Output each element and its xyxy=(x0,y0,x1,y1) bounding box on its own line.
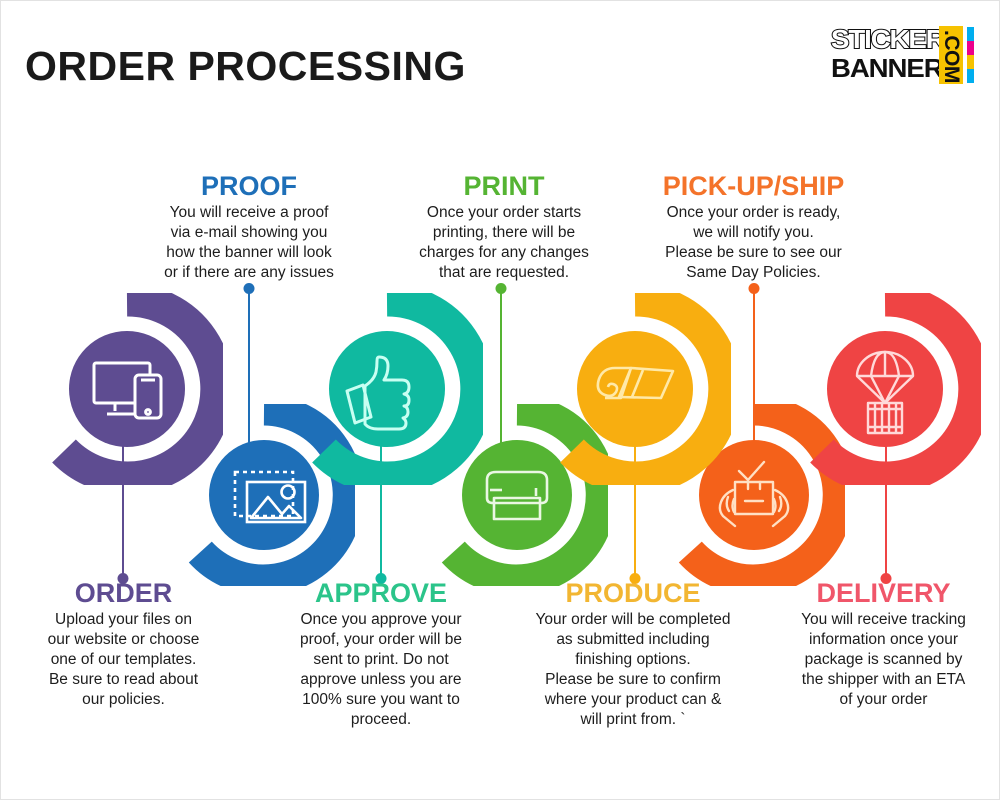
step-circle-approve[interactable] xyxy=(291,293,483,485)
body-line: Once your order starts xyxy=(406,203,602,223)
step-text-proof: PROOF You will receive a proof via e-mai… xyxy=(146,171,352,283)
connector-dot-pickup xyxy=(749,283,760,294)
step-title-approve: APPROVE xyxy=(279,578,483,608)
step-body-print: Once your order starts printing, there w… xyxy=(406,203,602,283)
step-body-pickup-ship: Once your order is ready, we will notify… xyxy=(651,203,856,283)
step-text-approve: APPROVE Once you approve your proof, you… xyxy=(279,578,483,730)
body-line: via e-mail showing you xyxy=(146,223,352,243)
step-circle-delivery[interactable] xyxy=(789,293,981,485)
logo-line-stickers: STICKERS xyxy=(831,25,950,54)
body-line: proceed. xyxy=(279,710,483,730)
body-line: of your order xyxy=(776,690,991,710)
body-line: will print from. ` xyxy=(513,710,753,730)
step-body-produce: Your order will be completed as submitte… xyxy=(513,610,753,730)
body-line: Same Day Policies. xyxy=(651,263,856,283)
step-title-delivery: DELIVERY xyxy=(776,578,991,608)
step-text-produce: PRODUCE Your order will be completed as … xyxy=(513,578,753,730)
body-line: we will notify you. xyxy=(651,223,856,243)
body-line: how the banner will look xyxy=(146,243,352,263)
body-line: approve unless you are xyxy=(279,670,483,690)
infographic-canvas: ORDER PROCESSING STICKERS BANNERS .COM xyxy=(0,0,1000,800)
delivery-ring-graphic xyxy=(789,293,981,485)
step-title-order: ORDER xyxy=(21,578,226,608)
logo-dotcom: .COM xyxy=(939,26,963,84)
body-line: information once your xyxy=(776,630,991,650)
produce-ring-graphic xyxy=(539,293,731,485)
step-body-delivery: You will receive tracking information on… xyxy=(776,610,991,710)
body-line: package is scanned by xyxy=(776,650,991,670)
body-line: our website or choose xyxy=(21,630,226,650)
body-line: as submitted including xyxy=(513,630,753,650)
logo-bar-4 xyxy=(967,69,974,83)
logo-bar-2 xyxy=(967,41,974,55)
step-text-order: ORDER Upload your files on our website o… xyxy=(21,578,226,710)
step-title-print: PRINT xyxy=(406,171,602,201)
body-line: Once your order is ready, xyxy=(651,203,856,223)
logo-line-banners: BANNERS xyxy=(831,54,950,83)
logo-color-bars xyxy=(967,27,974,83)
body-line: one of our templates. xyxy=(21,650,226,670)
logo-wordmark: STICKERS BANNERS xyxy=(831,25,943,83)
body-line: sent to print. Do not xyxy=(279,650,483,670)
order-ring-graphic xyxy=(31,293,223,485)
body-line: proof, your order will be xyxy=(279,630,483,650)
body-line: You will receive a proof xyxy=(146,203,352,223)
connector-dot-print xyxy=(496,283,507,294)
logo-bar-1 xyxy=(967,27,974,41)
body-line: charges for any changes xyxy=(406,243,602,263)
step-text-pickup-ship: PICK-UP/SHIP Once your order is ready, w… xyxy=(651,171,856,283)
body-line: Please be sure to see our xyxy=(651,243,856,263)
body-line: Be sure to read about xyxy=(21,670,226,690)
body-line: where your product can & xyxy=(513,690,753,710)
step-body-order: Upload your files on our website or choo… xyxy=(21,610,226,710)
body-line: You will receive tracking xyxy=(776,610,991,630)
step-body-approve: Once you approve your proof, your order … xyxy=(279,610,483,730)
body-line: Upload your files on xyxy=(21,610,226,630)
body-line: or if there are any issues xyxy=(146,263,352,283)
body-line: finishing options. xyxy=(513,650,753,670)
step-title-pickup-ship: PICK-UP/SHIP xyxy=(651,171,856,201)
body-line: that are requested. xyxy=(406,263,602,283)
step-title-produce: PRODUCE xyxy=(513,578,753,608)
connector-dot-proof xyxy=(244,283,255,294)
body-line: the shipper with an ETA xyxy=(776,670,991,690)
step-text-delivery: DELIVERY You will receive tracking infor… xyxy=(776,578,991,710)
step-circle-produce[interactable] xyxy=(539,293,731,485)
step-text-print: PRINT Once your order starts printing, t… xyxy=(406,171,602,283)
body-line: our policies. xyxy=(21,690,226,710)
step-body-proof: You will receive a proof via e-mail show… xyxy=(146,203,352,283)
body-line: printing, there will be xyxy=(406,223,602,243)
logo-bar-3 xyxy=(967,55,974,69)
approve-ring-graphic xyxy=(291,293,483,485)
body-line: 100% sure you want to xyxy=(279,690,483,710)
step-title-proof: PROOF xyxy=(146,171,352,201)
body-line: Once you approve your xyxy=(279,610,483,630)
step-circle-order[interactable] xyxy=(31,293,223,485)
body-line: Please be sure to confirm xyxy=(513,670,753,690)
body-line: Your order will be completed xyxy=(513,610,753,630)
brand-logo: STICKERS BANNERS .COM xyxy=(831,25,981,87)
page-title: ORDER PROCESSING xyxy=(25,43,466,90)
